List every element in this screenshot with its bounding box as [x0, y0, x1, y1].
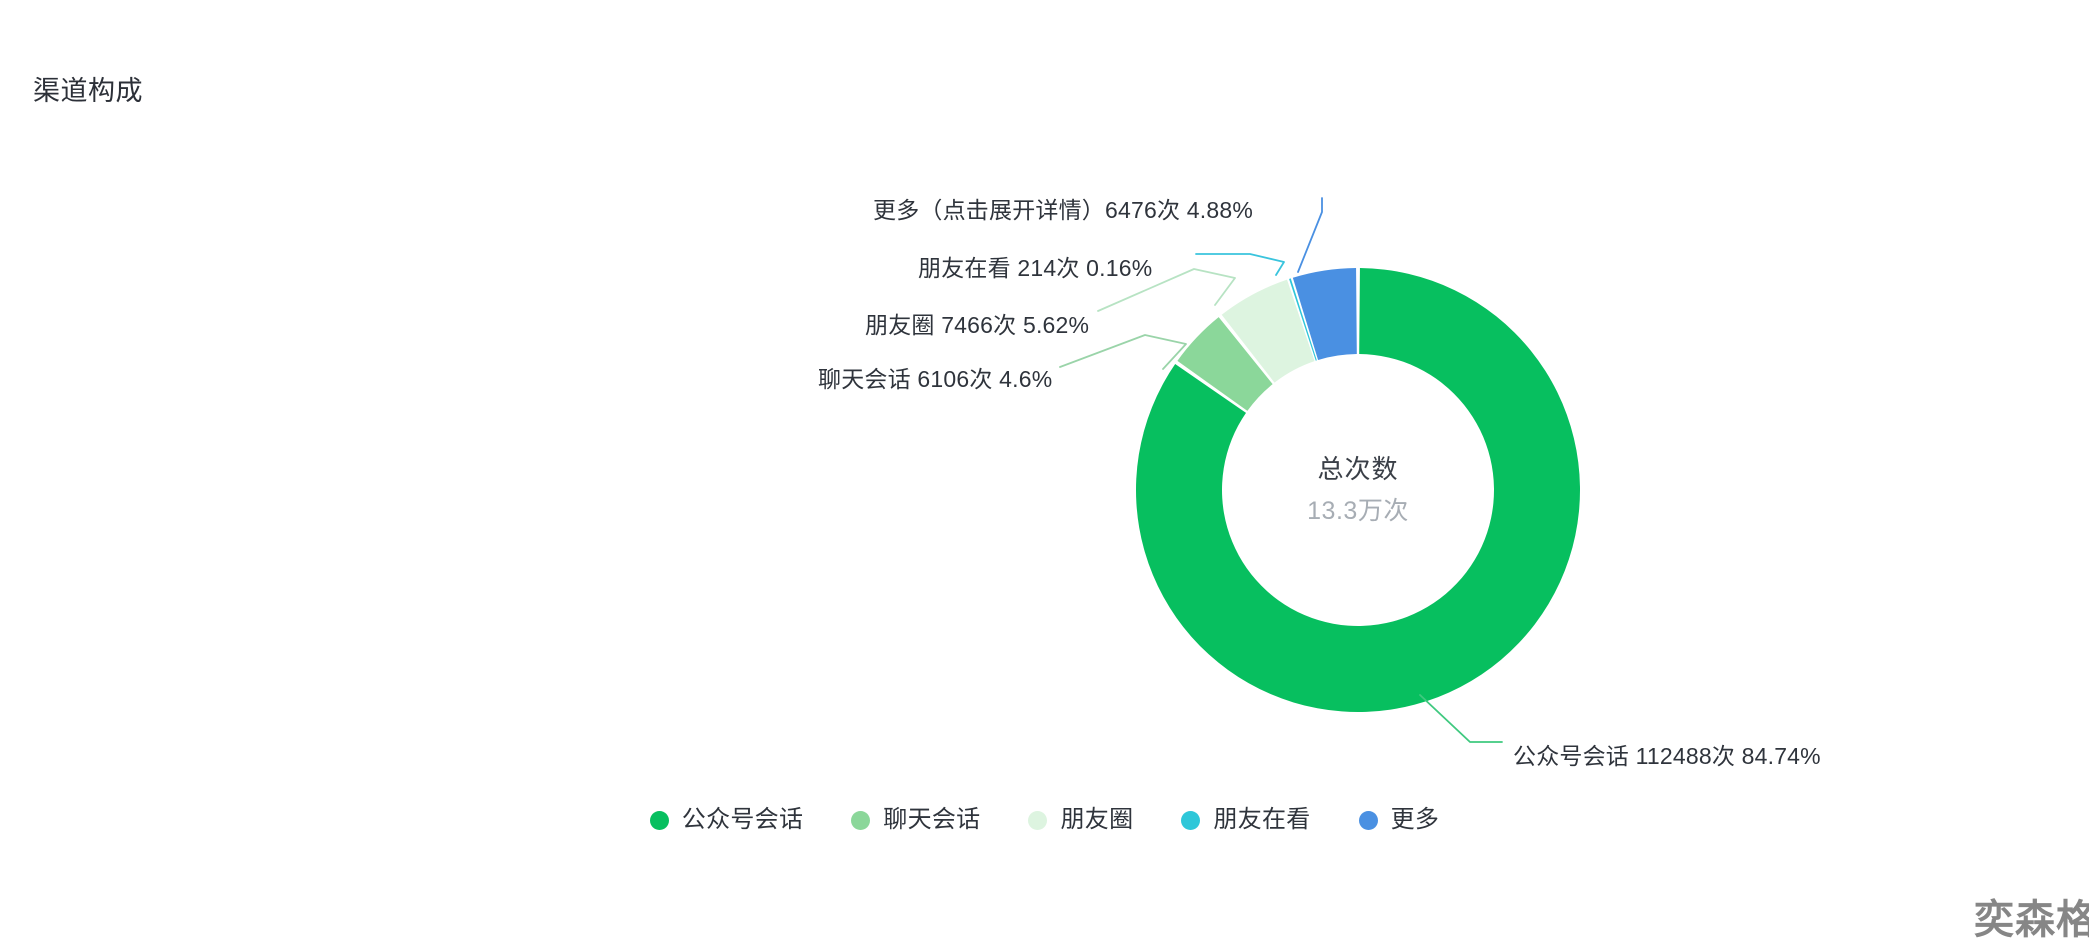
center-label: 总次数: [1193, 451, 1523, 487]
legend-color-swatch-icon: [650, 811, 669, 830]
legend-color-swatch-icon: [1028, 811, 1047, 830]
leader-line: [1420, 695, 1502, 742]
callout-label-official-account: 公众号会话 112488次 84.74%: [1513, 742, 1821, 770]
legend-item[interactable]: 朋友在看: [1181, 805, 1310, 835]
leader-line: [1060, 335, 1186, 369]
legend-item[interactable]: 公众号会话: [650, 805, 804, 835]
center-value: 13.3万次: [1193, 493, 1523, 529]
legend-color-swatch-icon: [851, 811, 870, 830]
leader-line: [1298, 198, 1322, 272]
legend-item-label: 公众号会话: [682, 805, 804, 835]
legend-item[interactable]: 更多: [1359, 805, 1440, 835]
legend-item-label: 聊天会话: [883, 805, 980, 835]
callout-label-moments: 朋友圈 7466次 5.62%: [865, 311, 1089, 339]
chart-legend: 公众号会话聊天会话朋友圈朋友在看更多: [0, 805, 2089, 835]
chart-canvas: 渠道构成 总次数 13.3万次 更多（点击展开详情）6476次 4.88% 朋友…: [0, 0, 2089, 949]
legend-color-swatch-icon: [1359, 811, 1378, 830]
callout-label-friend-reading: 朋友在看 214次 0.16%: [918, 254, 1152, 282]
legend-item-label: 朋友在看: [1213, 805, 1310, 835]
callout-label-more[interactable]: 更多（点击展开详情）6476次 4.88%: [873, 196, 1253, 224]
legend-color-swatch-icon: [1181, 811, 1200, 830]
legend-item-label: 朋友圈: [1060, 805, 1133, 835]
legend-item-label: 更多: [1391, 805, 1440, 835]
callout-label-chat-session: 聊天会话 6106次 4.6%: [818, 365, 1052, 393]
legend-item[interactable]: 朋友圈: [1028, 805, 1133, 835]
donut-center-text: 总次数 13.3万次: [1193, 451, 1523, 529]
legend-item[interactable]: 聊天会话: [851, 805, 980, 835]
watermark: 奕森格: [1974, 897, 2089, 943]
